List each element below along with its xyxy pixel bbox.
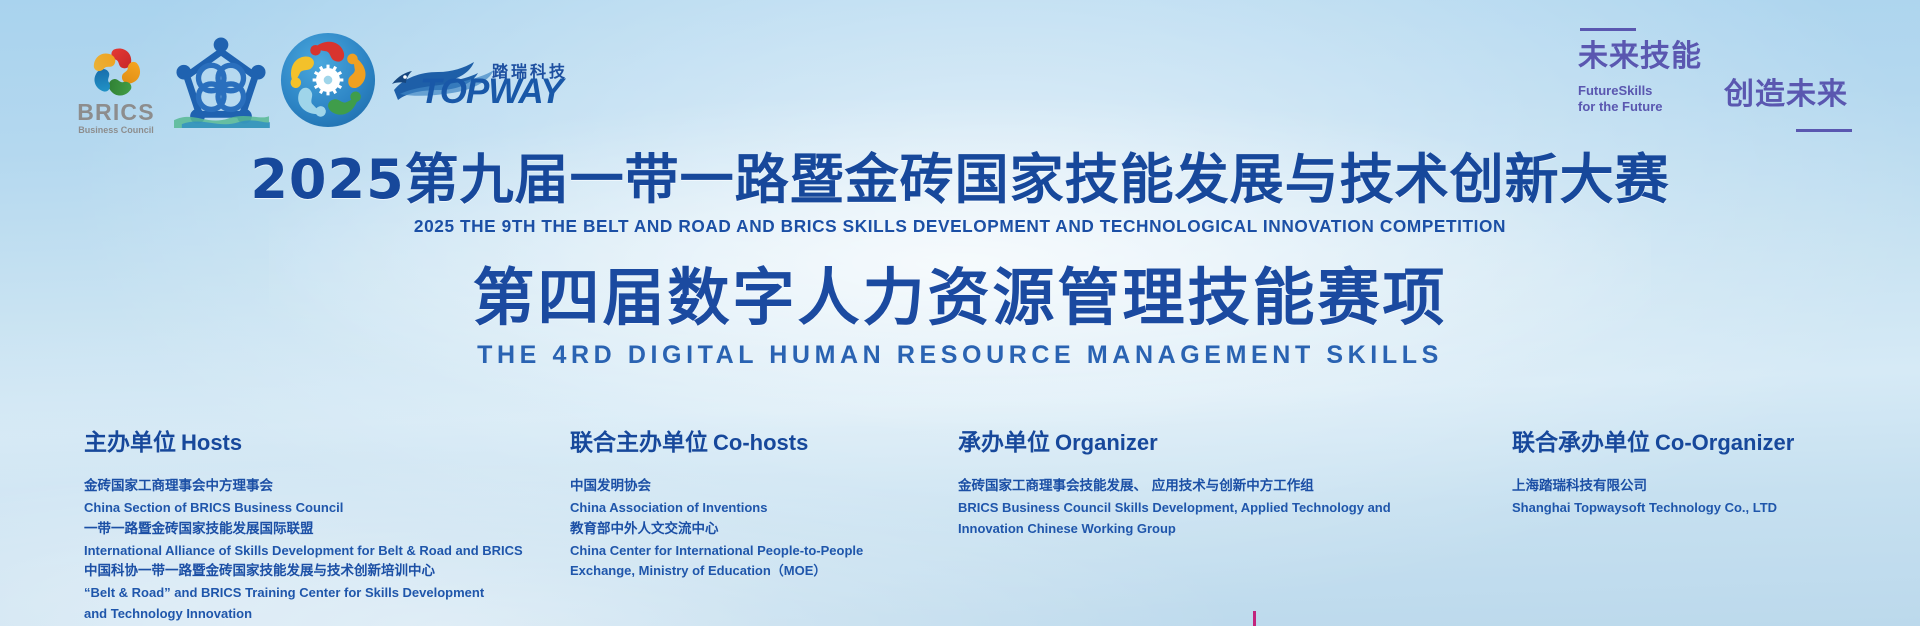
main-title-english: 2025 THE 9TH THE BELT AND ROAD AND BRICS… — [14, 216, 1905, 237]
belt-road-alliance-emblem-icon — [172, 36, 270, 128]
org-line-en: Innovation Chinese Working Group — [958, 519, 1428, 540]
brics-skills-circular-emblem-icon — [280, 32, 376, 128]
futureskills-rule-top — [1580, 28, 1636, 31]
org-line-cn: 中国科协一带一路暨金砖国家技能发展与技术创新培训中心 — [84, 561, 554, 583]
futureskills-mark: 未来技能 FutureSkillsfor the Future 创造未来 — [1552, 28, 1852, 132]
footer-column-cohosts: 联合主办单位Co-hosts 中国发明协会 China Association … — [570, 432, 970, 582]
futureskills-cn-line2: 创造未来 — [1724, 80, 1848, 110]
logo-brics-skills-emblem — [280, 32, 376, 128]
subtitle-english: THE 4RD DIGITAL HUMAN RESOURCE MANAGEMEN… — [0, 341, 1920, 370]
subtitle-chinese: 第四届数字人力资源管理技能赛项 — [0, 263, 1920, 332]
org-line-cn: 金砖国家工商理事会中方理事会 — [84, 476, 554, 498]
org-line-en: BRICS Business Council Skills Developmen… — [958, 498, 1428, 519]
footer-column-heading: 联合承办单位Co-Organizer — [1512, 432, 1912, 455]
futureskills-en-text: FutureSkillsfor the Future — [1578, 83, 1663, 116]
heading-en: Hosts — [181, 430, 242, 455]
heading-cn: 联合主办单位 — [570, 430, 708, 456]
heading-cn: 承办单位 — [958, 430, 1050, 456]
org-line-cn: 教育部中外人文交流中心 — [570, 519, 970, 541]
org-line-en: Exchange, Ministry of Education（MOE） — [570, 561, 970, 582]
footer-column-organizer: 承办单位Organizer 金砖国家工商理事会技能发展、 应用技术与创新中方工作… — [958, 432, 1428, 539]
futureskills-cn-line1: 未来技能 — [1578, 42, 1702, 72]
org-line-en: Shanghai Topwaysoft Technology Co., LTD — [1512, 498, 1912, 519]
competition-banner: BRICS Business Council — [0, 0, 1920, 626]
org-line-en: and Technology Innovation — [84, 604, 554, 625]
heading-cn: 主办单位 — [84, 430, 176, 456]
org-line-en: International Alliance of Skills Develop… — [84, 541, 554, 562]
heading-en: Co-Organizer — [1655, 430, 1794, 455]
footer-column-heading: 承办单位Organizer — [958, 432, 1428, 455]
futureskills-en-line2: for the Future — [1578, 99, 1663, 114]
footer-column-hosts: 主办单位Hosts 金砖国家工商理事会中方理事会 China Section o… — [84, 432, 554, 625]
org-line-en: China Section of BRICS Business Council — [84, 498, 554, 519]
org-line-cn: 中国发明协会 — [570, 476, 970, 498]
heading-cn: 联合承办单位 — [1512, 430, 1650, 456]
futureskills-en-line1: FutureSkills — [1578, 83, 1652, 98]
brics-council-subtitle: Business Council — [66, 125, 166, 136]
footer-column-heading: 主办单位Hosts — [84, 432, 554, 455]
footer-column-heading: 联合主办单位Co-hosts — [570, 432, 970, 455]
footer-column-coorganizer: 联合承办单位Co-Organizer 上海踏瑞科技有限公司 Shanghai T… — [1512, 432, 1912, 519]
title-block: 2025第九届一带一路暨金砖国家技能发展与技术创新大赛 2025 THE 9TH… — [0, 150, 1920, 370]
org-line-en: “Belt & Road” and BRICS Training Center … — [84, 583, 554, 604]
org-line-cn: 上海踏瑞科技有限公司 — [1512, 476, 1912, 498]
org-line-cn: 一带一路暨金砖国家技能发展国际联盟 — [84, 519, 554, 541]
heading-en: Organizer — [1055, 430, 1158, 455]
org-line-en: China Center for International People-to… — [570, 541, 970, 562]
brics-wordmark: BRICS — [66, 101, 166, 124]
main-title-chinese: 2025第九届一带一路暨金砖国家技能发展与技术创新大赛 — [0, 150, 1920, 209]
futureskills-rule-bottom — [1796, 129, 1852, 132]
org-line-en: China Association of Inventions — [570, 498, 970, 519]
logo-brics-business-council: BRICS Business Council — [66, 44, 166, 136]
brics-star-icon — [87, 44, 145, 98]
footer-organizations: 主办单位Hosts 金砖国家工商理事会中方理事会 China Section o… — [0, 432, 1920, 622]
logo-topway: 踏瑞科技 TOPWAY — [390, 54, 570, 118]
org-line-cn: 金砖国家工商理事会技能发展、 应用技术与创新中方工作组 — [958, 476, 1428, 498]
logo-belt-road-alliance — [172, 36, 270, 128]
heading-en: Co-hosts — [713, 430, 808, 455]
topway-wordmark: TOPWAY — [420, 74, 562, 109]
bottom-magenta-tick — [1253, 611, 1256, 626]
